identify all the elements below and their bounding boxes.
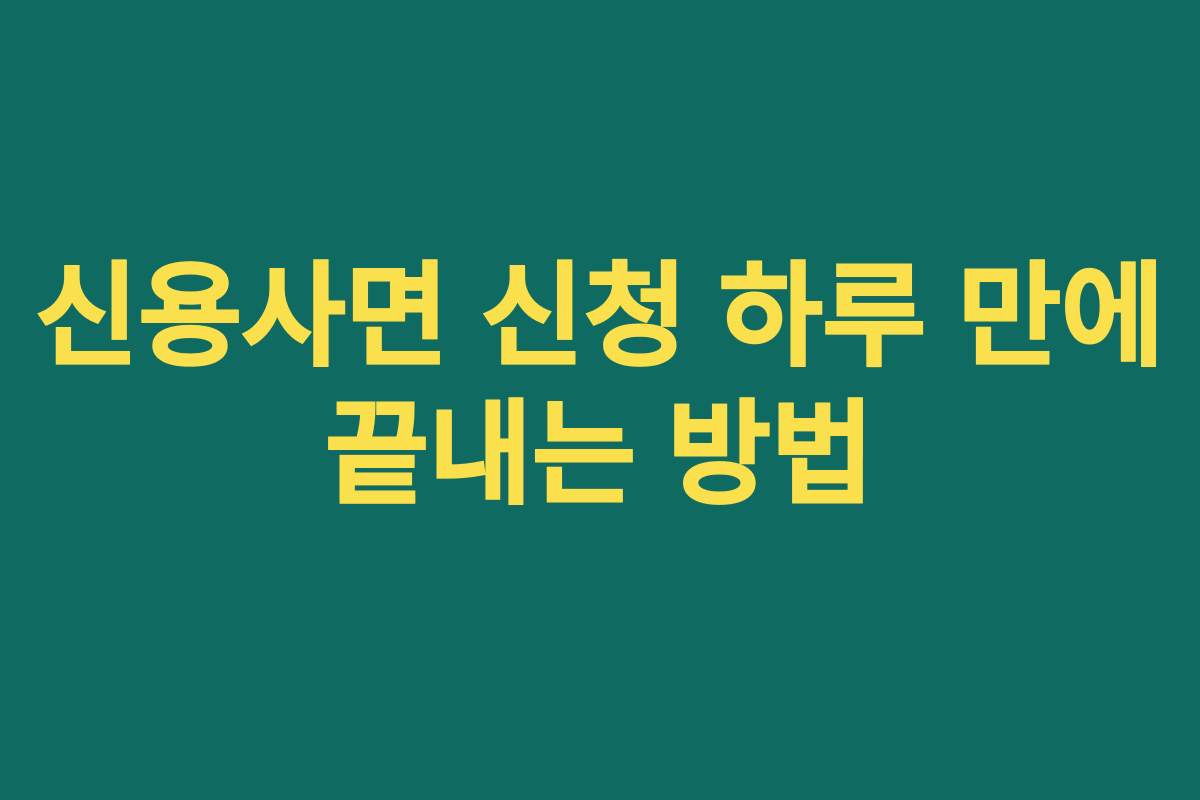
headline-line-2: 끝내는 방법 — [325, 389, 874, 521]
thumbnail-canvas: 신용사면 신청 하루 만에 끝내는 방법 — [0, 0, 1200, 800]
headline-block: 신용사면 신청 하루 만에 끝내는 방법 — [0, 0, 1200, 800]
headline-line-1: 신용사면 신청 하루 만에 — [35, 251, 1165, 383]
